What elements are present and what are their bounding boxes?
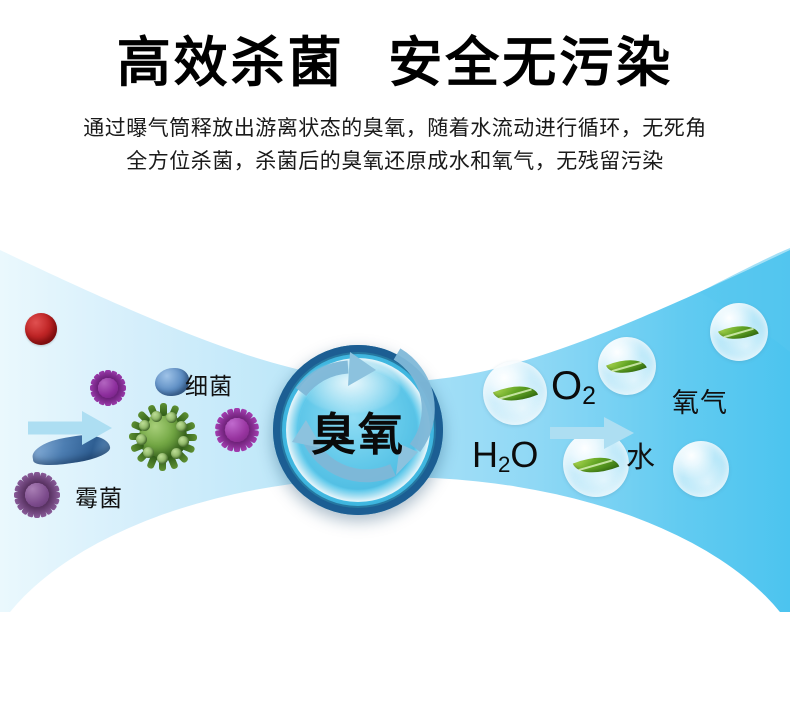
page-title: 高效杀菌 安全无污染: [0, 36, 790, 90]
page-subtitle: 通过曝气筒释放出游离状态的臭氧，随着水流动进行循环，无死角 全方位杀菌，杀菌后的…: [0, 112, 790, 177]
water-bubble-icon: [673, 441, 729, 497]
leaf-bubble-icon: [598, 337, 656, 395]
label-bacteria: 细菌: [185, 367, 233, 401]
header: 高效杀菌 安全无污染 通过曝气筒释放出游离状态的臭氧，随着水流动进行循环，无死角…: [0, 0, 790, 177]
subtitle-line-1: 通过曝气筒释放出游离状态的臭氧，随着水流动进行循环，无死角: [0, 112, 790, 145]
leaf-bubble-icon: [710, 303, 768, 361]
virus-knob: [157, 453, 168, 464]
formula-water: H2O: [472, 434, 538, 476]
formula-water-h: H: [472, 434, 498, 475]
arrow-shaft: [550, 427, 606, 439]
right-arrow-icon: [28, 411, 112, 445]
formula-water-o: O: [510, 434, 538, 475]
red-germ-icon: [25, 313, 57, 345]
arrow-shaft: [28, 422, 84, 435]
blue-bacteria-icon: [155, 368, 189, 396]
poster-canvas: 高效杀菌 安全无污染 通过曝气筒释放出游离状态的臭氧，随着水流动进行循环，无死角…: [0, 0, 790, 706]
ozone-label: 臭氧: [273, 345, 443, 515]
leaf-bubble-icon: [483, 361, 547, 425]
formula-oxygen: O2: [551, 364, 596, 409]
label-mold: 霉菌: [75, 479, 123, 513]
formula-oxygen-symbol: O: [551, 364, 582, 408]
green-virus-icon: [126, 400, 200, 474]
formula-oxygen-subscript: 2: [582, 383, 596, 410]
purple-spiky-germ-icon: [88, 368, 128, 408]
formula-water-subscript: 2: [498, 452, 510, 477]
virus-knob: [151, 411, 162, 422]
arrow-head: [82, 411, 112, 445]
purple-spiky-germ-icon: [213, 406, 261, 454]
subtitle-line-2: 全方位杀菌，杀菌后的臭氧还原成水和氧气，无残留污染: [0, 145, 790, 178]
bubble-glass: [673, 441, 729, 497]
label-oxygen: 氧气: [672, 381, 728, 420]
label-water: 水: [626, 434, 656, 476]
right-arrow-icon: [550, 417, 634, 449]
virus-knob: [166, 412, 177, 423]
purple-spiky-germ-icon: [12, 470, 62, 520]
